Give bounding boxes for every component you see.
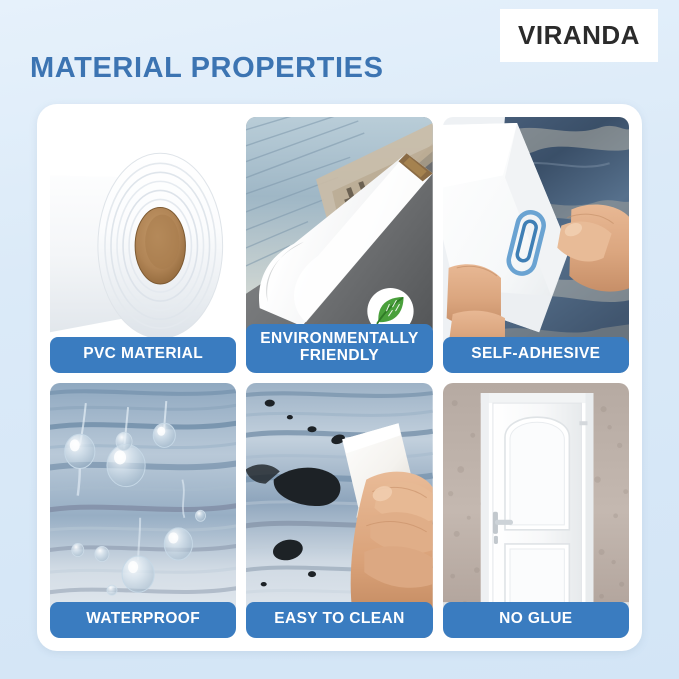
card-label-line: NO GLUE xyxy=(447,611,625,628)
self-adhesive-image xyxy=(443,117,629,373)
brand-logo-badge: VIRANDA xyxy=(500,9,658,62)
page-title: MATERIAL PROPERTIES xyxy=(30,52,384,85)
no-glue-door-image xyxy=(443,383,629,639)
card-label-line: ENVIRONMENTALLY xyxy=(250,331,428,348)
feature-grid: PVC MATERIAL xyxy=(50,117,629,638)
feature-card-pvc-material[interactable]: PVC MATERIAL xyxy=(50,117,236,373)
card-label-line: SELF-ADHESIVE xyxy=(447,346,625,363)
card-label-line: PVC MATERIAL xyxy=(54,346,232,363)
feature-card-waterproof[interactable]: WATERPROOF xyxy=(50,383,236,639)
easy-to-clean-image xyxy=(246,383,432,639)
brand-logo-text: VIRANDA xyxy=(518,20,640,51)
card-label-waterproof: WATERPROOF xyxy=(50,602,236,638)
waterproof-image xyxy=(50,383,236,639)
card-label-easy-to-clean: EASY TO CLEAN xyxy=(246,602,432,638)
feature-panel: PVC MATERIAL xyxy=(37,104,642,651)
card-label-self-adhesive: SELF-ADHESIVE xyxy=(443,337,629,373)
card-label-line: WATERPROOF xyxy=(54,611,232,628)
pvc-roll-image xyxy=(50,117,236,373)
product-feature-infographic: VIRANDA MATERIAL PROPERTIES xyxy=(0,0,679,679)
card-label-line: EASY TO CLEAN xyxy=(250,611,428,628)
card-label-environmentally-friendly: ENVIRONMENTALLY FRIENDLY xyxy=(246,324,432,372)
feature-card-environmentally-friendly[interactable]: ENVIRONMENTALLY FRIENDLY xyxy=(246,117,432,373)
card-label-line: FRIENDLY xyxy=(250,348,428,365)
card-label-pvc-material: PVC MATERIAL xyxy=(50,337,236,373)
feature-card-easy-to-clean[interactable]: EASY TO CLEAN xyxy=(246,383,432,639)
feature-card-self-adhesive[interactable]: SELF-ADHESIVE xyxy=(443,117,629,373)
feature-card-no-glue[interactable]: NO GLUE xyxy=(443,383,629,639)
card-label-no-glue: NO GLUE xyxy=(443,602,629,638)
